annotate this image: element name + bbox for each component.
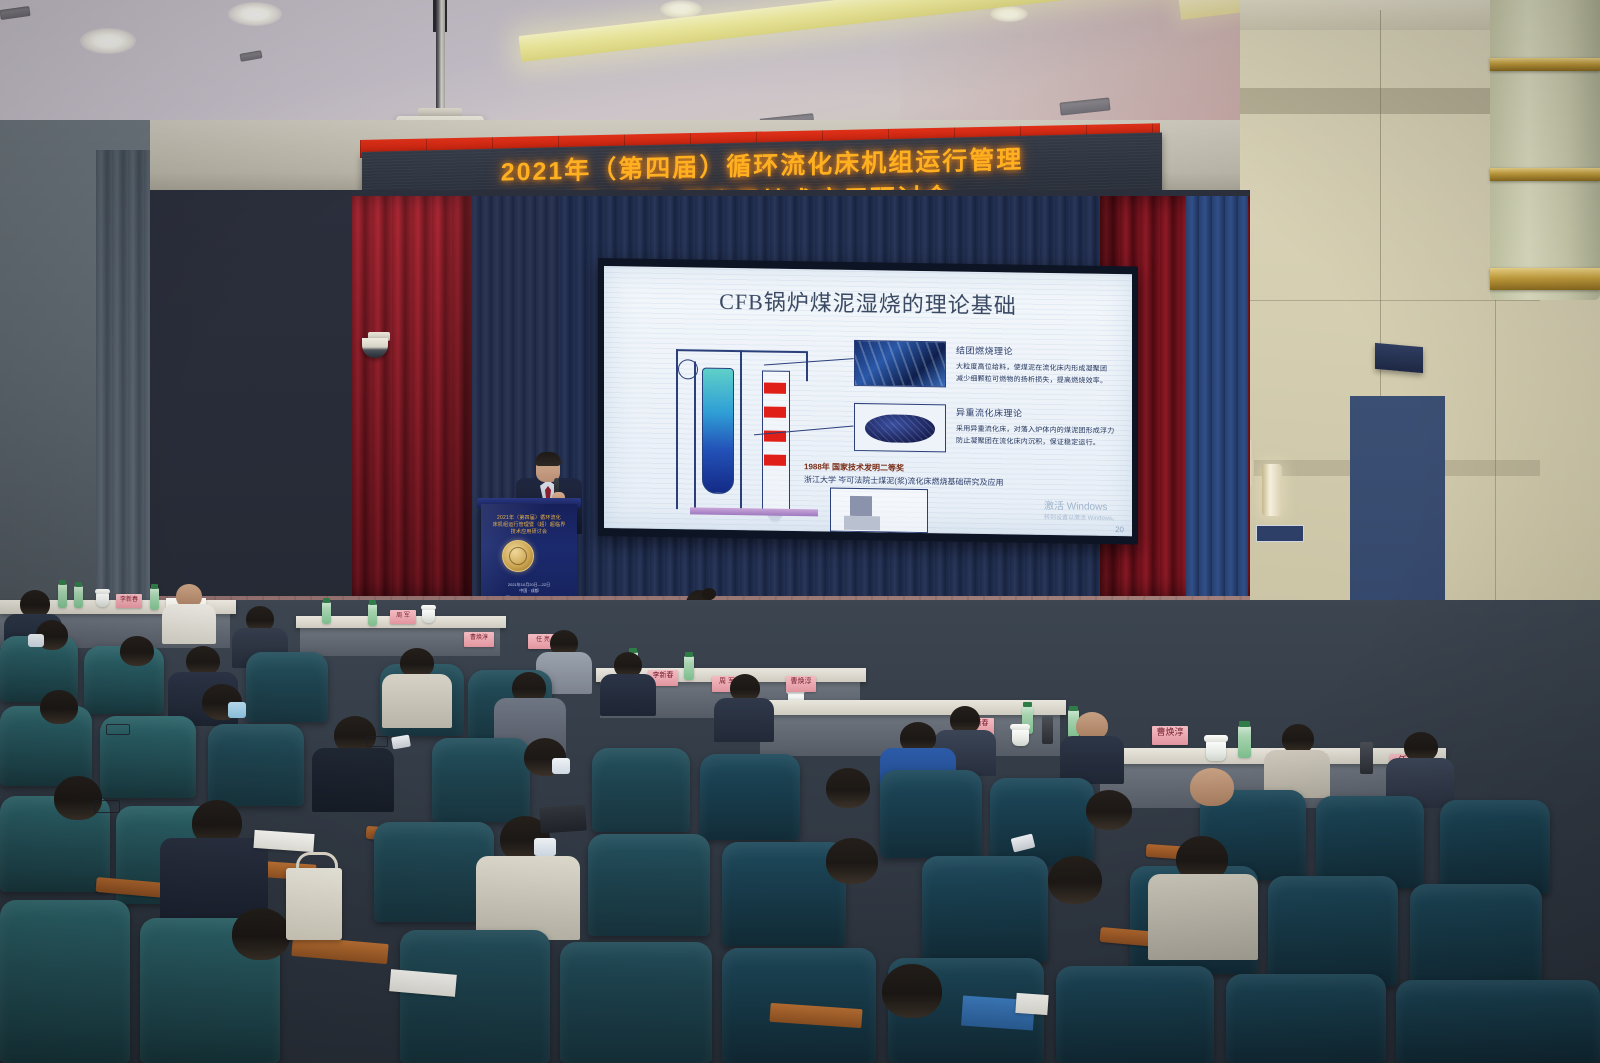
slide-section2-body-line2: 防止凝聚团在流化床内沉积，保证稳定运行。: [956, 436, 1100, 449]
column-gold-band: [1490, 58, 1600, 71]
slide-award-line1: 1988年 国家技术发明二等奖: [804, 461, 904, 475]
ceiling-downlight: [990, 6, 1028, 22]
person-torso: [162, 604, 216, 644]
bottle-cap: [685, 652, 693, 657]
person-torso: [600, 674, 656, 716]
person-torso: [1148, 874, 1258, 960]
slide-page-number: 20: [1115, 525, 1124, 534]
furnace-riser: [702, 368, 734, 495]
face-mask: [552, 758, 570, 774]
decorative-column: [1490, 0, 1600, 300]
person-torso: [382, 674, 452, 728]
face-mask: [28, 634, 44, 647]
ceiling-downlight: [80, 28, 136, 54]
person-torso: [476, 856, 580, 940]
speaker-hair: [535, 452, 561, 466]
tea-mug-lid: [421, 605, 436, 610]
bottle-cap: [151, 584, 158, 589]
podium-title-text: 2021年（第四届）循环流化 床机组运行管理暨（超）超临界 技术应用研讨会: [486, 515, 572, 536]
emblem-inner-ring: [509, 547, 527, 565]
windows-activation-watermark: 激活 Windows 转到设置以激活 Windows。: [1044, 497, 1118, 522]
ceiling-downlight: [228, 2, 282, 26]
auditorium-seat[interactable]: [1440, 800, 1550, 894]
person-head: [54, 776, 102, 820]
water-bottle: [368, 604, 377, 626]
face-mask: [228, 702, 246, 718]
front-table: [756, 700, 1066, 715]
tea-mug: [422, 608, 435, 623]
wall-sign-right: [1256, 525, 1304, 542]
auditorium-seat[interactable]: [700, 754, 800, 840]
wall-sconce-right: [1262, 464, 1282, 516]
laptop[interactable]: [539, 804, 587, 833]
name-card: 曹焕淳: [464, 632, 494, 647]
slide-photo-agglomerate: [854, 340, 946, 387]
diagram-line: [740, 350, 742, 510]
bottle-cap: [59, 580, 66, 585]
tea-mug-lid: [1010, 724, 1030, 730]
person-torso: [312, 748, 394, 812]
bottle-cap: [1023, 702, 1032, 707]
tea-mug: [1012, 728, 1029, 746]
auditorium-seat[interactable]: [560, 942, 712, 1063]
auditorium-seat[interactable]: [208, 724, 304, 806]
auditorium-seat[interactable]: [246, 652, 328, 722]
name-card: 曹焕淳: [1152, 726, 1188, 745]
person-head: [40, 690, 78, 724]
eyeglasses-icon: [106, 724, 130, 735]
eyeglasses-icon: [94, 800, 120, 813]
tea-mug: [1206, 740, 1226, 761]
slide-section2-heading: 异重流化床理论: [956, 406, 1023, 420]
water-bottle: [1238, 726, 1251, 758]
water-bottle: [684, 656, 694, 680]
water-bottle: [150, 588, 159, 610]
auditorium-seat[interactable]: [588, 834, 710, 936]
water-bottle: [322, 602, 331, 624]
wall-panel-seam: [1240, 300, 1540, 301]
slide-section1-heading: 结团燃烧理论: [956, 344, 1013, 358]
auditorium-seat[interactable]: [400, 930, 550, 1063]
diagram-line: [676, 349, 678, 509]
auditorium-seat[interactable]: [432, 738, 530, 822]
bottle-cap: [369, 600, 376, 605]
podium-date-text: 2021年10月20日—22日 中国 · 成都: [486, 582, 572, 594]
podium-title-line1: 2021年（第四届）循环流化: [486, 515, 572, 522]
heater-element: [764, 407, 786, 418]
person-head: [882, 964, 942, 1018]
water-bottle: [74, 586, 83, 608]
person-head: [826, 768, 870, 808]
equipment-body: [850, 496, 872, 516]
auditorium-seat[interactable]: [1396, 980, 1600, 1063]
bottle-cap: [1069, 706, 1078, 711]
tea-mug: [96, 592, 109, 607]
auditorium-seat[interactable]: [592, 748, 690, 832]
thermos-flask: [1042, 716, 1053, 744]
auditorium-seat[interactable]: [1056, 966, 1214, 1063]
auditorium-seat[interactable]: [880, 770, 982, 858]
auditorium-seat[interactable]: [1226, 974, 1386, 1063]
diagram-line: [806, 351, 808, 381]
cyclone-symbol: [678, 359, 698, 379]
slide-section1-body-line2: 减少细颗粒可燃物的扬析损失，提高燃烧效率。: [956, 374, 1107, 387]
tea-mug-lid: [95, 589, 110, 594]
person-head: [120, 636, 154, 666]
auditorium-seat[interactable]: [990, 778, 1094, 866]
podium-title-line3: 技术应用研讨会: [486, 529, 572, 536]
wall-speaker-right: [1375, 343, 1423, 373]
watermark-line1: 激活 Windows: [1044, 497, 1118, 513]
tea-mug-lid: [1204, 735, 1228, 742]
heater-element: [764, 455, 786, 466]
photo-texture: [855, 341, 945, 386]
name-card: 曹焕淳: [786, 676, 816, 692]
eyeglasses-icon: [366, 736, 388, 747]
diagram-line: [694, 361, 696, 511]
bottle-cap: [323, 598, 330, 603]
staff-member-hair-bun: [702, 588, 716, 600]
person-head: [1086, 790, 1132, 830]
stage-curtain-red-left-shading: [352, 196, 472, 596]
water-bottle: [58, 584, 67, 608]
face-mask: [534, 838, 556, 856]
person-head: [1048, 856, 1102, 904]
column-gold-band: [1490, 268, 1600, 290]
person-torso: [1060, 736, 1124, 784]
person-torso: [714, 698, 774, 742]
tote-bag: [286, 868, 342, 940]
conference-hall-photo: 2021年（第四届）循环流化床机组运行管理 暨（超）超临界技术应用研讨会 CFB…: [0, 0, 1600, 1063]
person-head: [232, 908, 290, 960]
watermark-line2: 转到设置以激活 Windows。: [1044, 512, 1118, 522]
column-gold-band: [1490, 168, 1600, 181]
auditorium-seat[interactable]: [0, 900, 130, 1063]
person-head: [826, 838, 878, 884]
projection-screen: CFB锅炉煤泥湿烧的理论基础 结团燃烧理论 大粒度高位给料，使煤泥在流化床内形: [604, 266, 1132, 536]
person-head: [1190, 768, 1234, 806]
bottle-cap: [1239, 721, 1250, 727]
name-card: 李新春: [116, 594, 142, 608]
auditorium-seat[interactable]: [1268, 876, 1398, 986]
podium-title-line2: 床机组运行管理暨（超）超临界: [486, 522, 572, 529]
auditorium-seat[interactable]: [1316, 796, 1424, 888]
heater-element: [764, 383, 786, 394]
projector-mount-pole: [436, 0, 445, 118]
photo-texture: [863, 412, 937, 445]
thermos-flask: [1360, 742, 1373, 774]
name-card: 周 军: [390, 610, 416, 624]
equipment-base: [844, 516, 880, 531]
bottle-cap: [75, 582, 82, 587]
slide-photo-coal-slurry: [854, 403, 946, 452]
document-sheet: [1015, 993, 1048, 1015]
podium-date-line2: 中国 · 成都: [486, 588, 572, 594]
auditorium-seat[interactable]: [922, 856, 1048, 962]
